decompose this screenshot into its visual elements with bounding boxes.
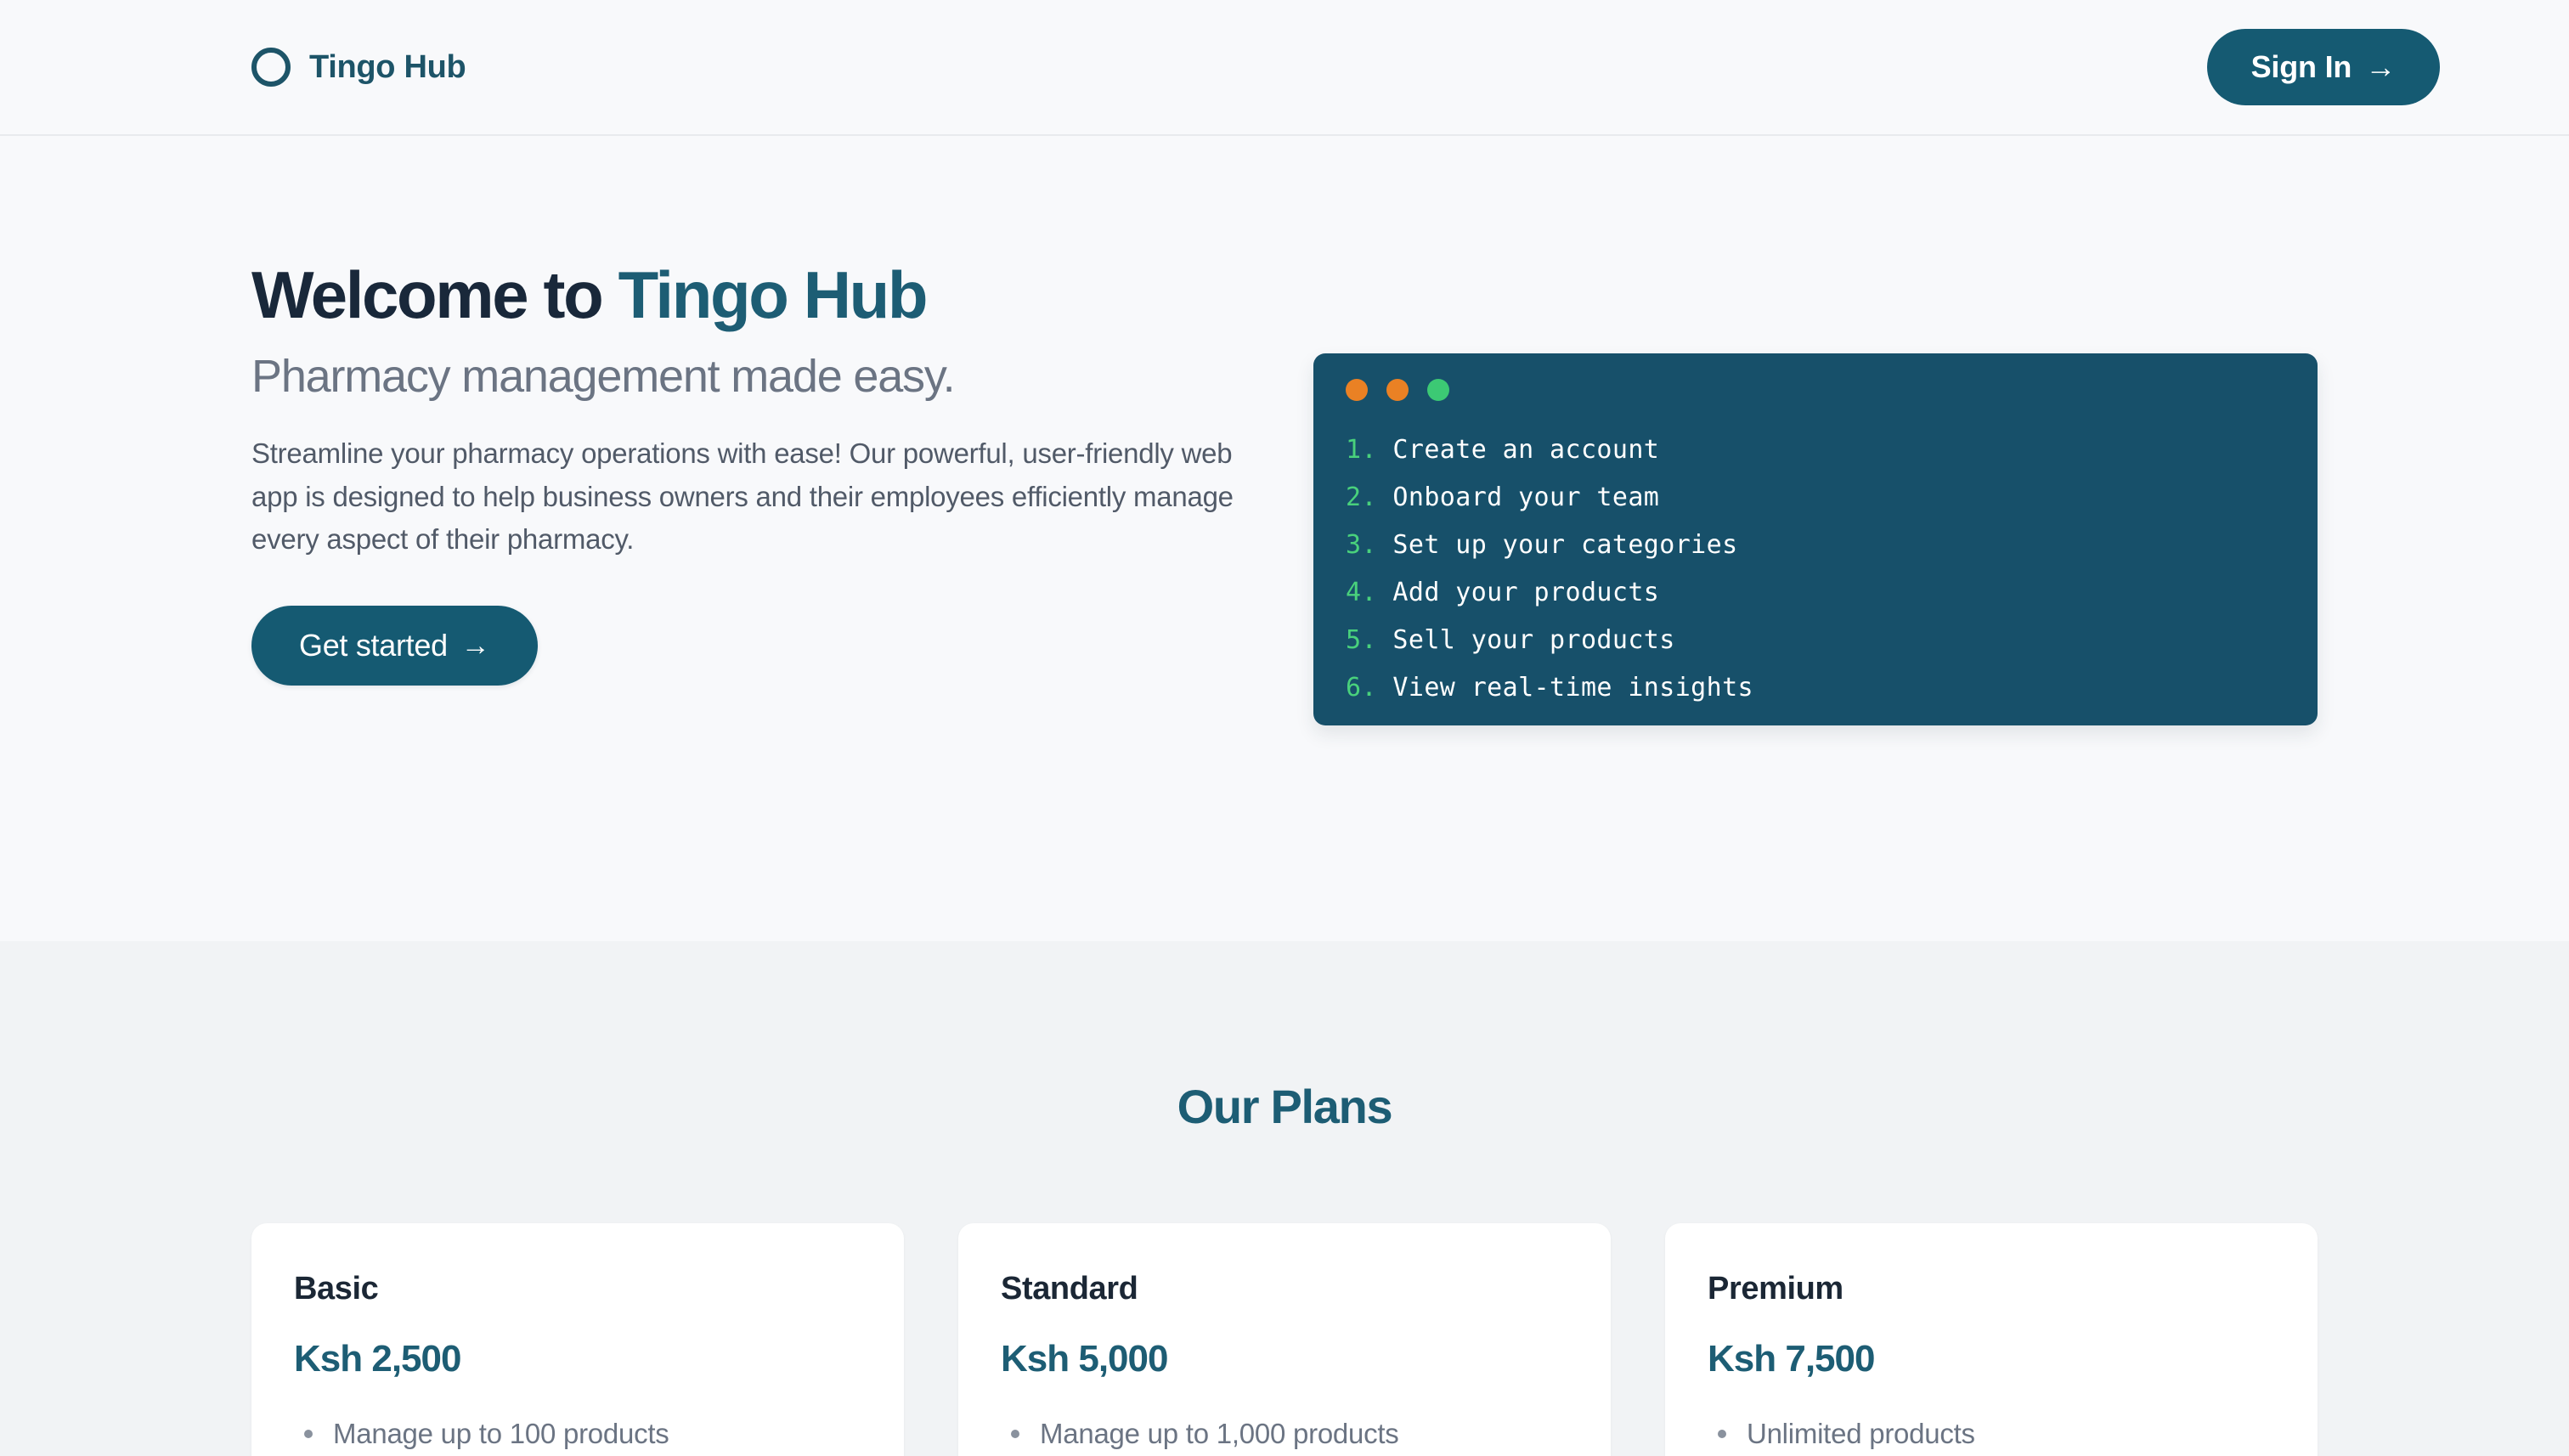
step-index: 4. (1346, 578, 1377, 607)
list-item: 4. Add your products (1346, 569, 2285, 617)
circle-outline-icon (251, 48, 291, 87)
site-header: Tingo Hub Sign In → (0, 0, 2569, 136)
list-item: 6. View real-time insights (1346, 664, 2285, 712)
hero-title-accent: Tingo Hub (618, 257, 927, 332)
arrow-right-icon: → (2365, 52, 2396, 82)
plan-feature-list: Manage up to 100 products (294, 1413, 861, 1455)
step-index: 5. (1346, 625, 1377, 655)
plan-feature-list: Manage up to 1,000 products (1001, 1413, 1568, 1455)
step-text: Create an account (1392, 435, 1659, 465)
plan-name: Premium (1708, 1271, 2275, 1307)
sign-in-button[interactable]: Sign In → (2207, 29, 2440, 105)
sign-in-label: Sign In (2251, 49, 2352, 85)
list-item: 3. Set up your categories (1346, 522, 2285, 569)
plan-card-list: Basic Ksh 2,500 Manage up to 100 product… (251, 1223, 2318, 1456)
window-maximize-dot-icon (1427, 379, 1449, 401)
onboarding-steps-terminal: 1. Create an account 2. Onboard your tea… (1313, 353, 2318, 725)
hero-text-block: Welcome to Tingo Hub Pharmacy management… (251, 260, 1262, 686)
plan-price: Ksh 7,500 (1708, 1338, 2275, 1380)
step-text: Onboard your team (1392, 483, 1659, 512)
brand-name: Tingo Hub (309, 49, 466, 86)
list-item: Unlimited products (1708, 1413, 2275, 1455)
plan-price: Ksh 5,000 (1001, 1338, 1568, 1380)
terminal-step-list: 1. Create an account 2. Onboard your tea… (1346, 426, 2285, 712)
window-minimize-dot-icon (1386, 379, 1409, 401)
plans-heading: Our Plans (0, 1079, 2569, 1134)
hero-title-lead: Welcome to (251, 257, 618, 332)
get-started-label: Get started (299, 628, 448, 663)
step-index: 1. (1346, 435, 1377, 465)
plan-card-standard[interactable]: Standard Ksh 5,000 Manage up to 1,000 pr… (958, 1223, 1611, 1456)
window-close-dot-icon (1346, 379, 1368, 401)
plan-card-premium[interactable]: Premium Ksh 7,500 Unlimited products (1665, 1223, 2318, 1456)
step-index: 2. (1346, 483, 1377, 512)
landing-page: Tingo Hub Sign In → Welcome to Tingo Hub… (0, 0, 2569, 1456)
list-item: 1. Create an account (1346, 426, 2285, 474)
brand-logo[interactable]: Tingo Hub (251, 48, 466, 87)
step-text: View real-time insights (1392, 673, 1753, 703)
step-text: Set up your categories (1392, 530, 1737, 560)
plan-name: Basic (294, 1271, 861, 1307)
hero-subtitle: Pharmacy management made easy. (251, 351, 1262, 402)
step-text: Add your products (1392, 578, 1659, 607)
plan-feature-list: Unlimited products (1708, 1413, 2275, 1455)
step-index: 3. (1346, 530, 1377, 560)
list-item: Manage up to 1,000 products (1001, 1413, 1568, 1455)
hero-description: Streamline your pharmacy operations with… (251, 432, 1241, 561)
get-started-button[interactable]: Get started → (251, 606, 538, 686)
plan-card-basic[interactable]: Basic Ksh 2,500 Manage up to 100 product… (251, 1223, 904, 1456)
step-text: Sell your products (1392, 625, 1674, 655)
page-title: Welcome to Tingo Hub (251, 260, 1262, 330)
list-item: 5. Sell your products (1346, 617, 2285, 664)
arrow-right-icon: → (461, 631, 490, 660)
terminal-window-controls (1346, 379, 2285, 401)
list-item: Manage up to 100 products (294, 1413, 861, 1455)
plan-name: Standard (1001, 1271, 1568, 1307)
plans-section: Our Plans Basic Ksh 2,500 Manage up to 1… (0, 941, 2569, 1456)
list-item: 2. Onboard your team (1346, 474, 2285, 522)
hero-section: Welcome to Tingo Hub Pharmacy management… (0, 138, 2569, 941)
step-index: 6. (1346, 673, 1377, 703)
plan-price: Ksh 2,500 (294, 1338, 861, 1380)
